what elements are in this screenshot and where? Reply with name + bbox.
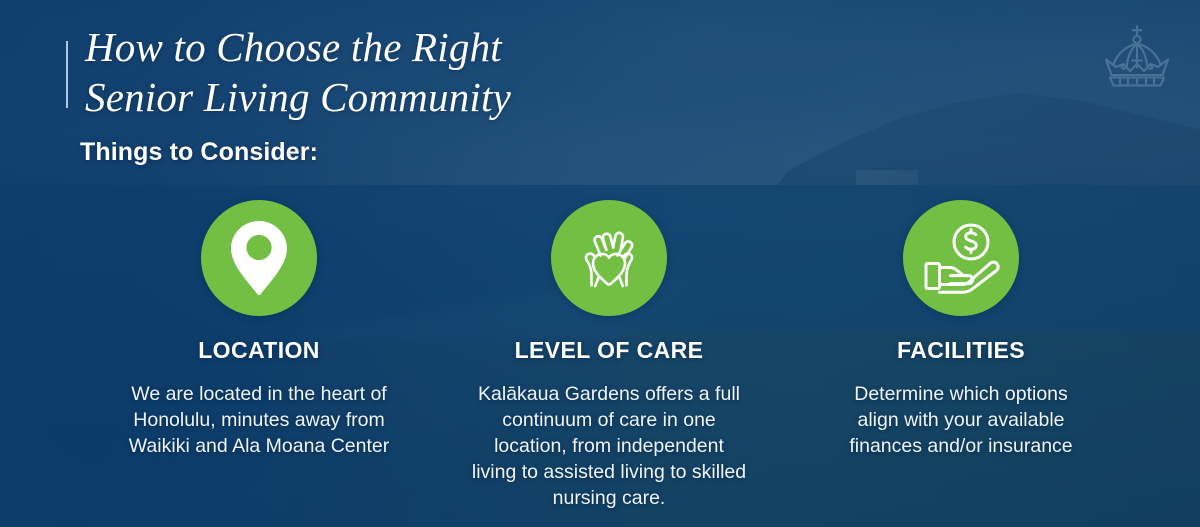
title-accent-rule (66, 41, 68, 108)
consideration-heading: LOCATION (198, 337, 320, 364)
consideration-location: LOCATION We are located in the heart of … (89, 200, 429, 511)
hand-holding-money-icon (903, 200, 1019, 316)
page-title-line-1: How to Choose the Right (85, 24, 502, 70)
crown-logo (1098, 22, 1176, 94)
infographic-banner: How to Choose the Right Senior Living Co… (0, 0, 1200, 527)
hands-holding-heart-icon (551, 200, 667, 316)
map-pin-icon (201, 200, 317, 316)
consideration-heading: FACILITIES (897, 337, 1025, 364)
consideration-body: We are located in the heart of Honolulu,… (114, 381, 404, 459)
page-subtitle: Things to Consider: (80, 138, 318, 167)
consideration-heading: LEVEL OF CARE (515, 337, 704, 364)
consideration-facilities: FACILITIES Determine which options align… (791, 200, 1131, 511)
page-title-line-2: Senior Living Community (85, 72, 785, 122)
consideration-body: Determine which options align with your … (831, 381, 1091, 459)
content-layer: How to Choose the Right Senior Living Co… (0, 0, 1200, 527)
page-title: How to Choose the Right Senior Living Co… (85, 22, 785, 122)
consideration-level-of-care: LEVEL OF CARE Kalākaua Gardens offers a … (439, 200, 779, 511)
consideration-body: Kalākaua Gardens offers a full continuum… (471, 381, 747, 511)
consideration-columns: LOCATION We are located in the heart of … (0, 200, 1200, 511)
